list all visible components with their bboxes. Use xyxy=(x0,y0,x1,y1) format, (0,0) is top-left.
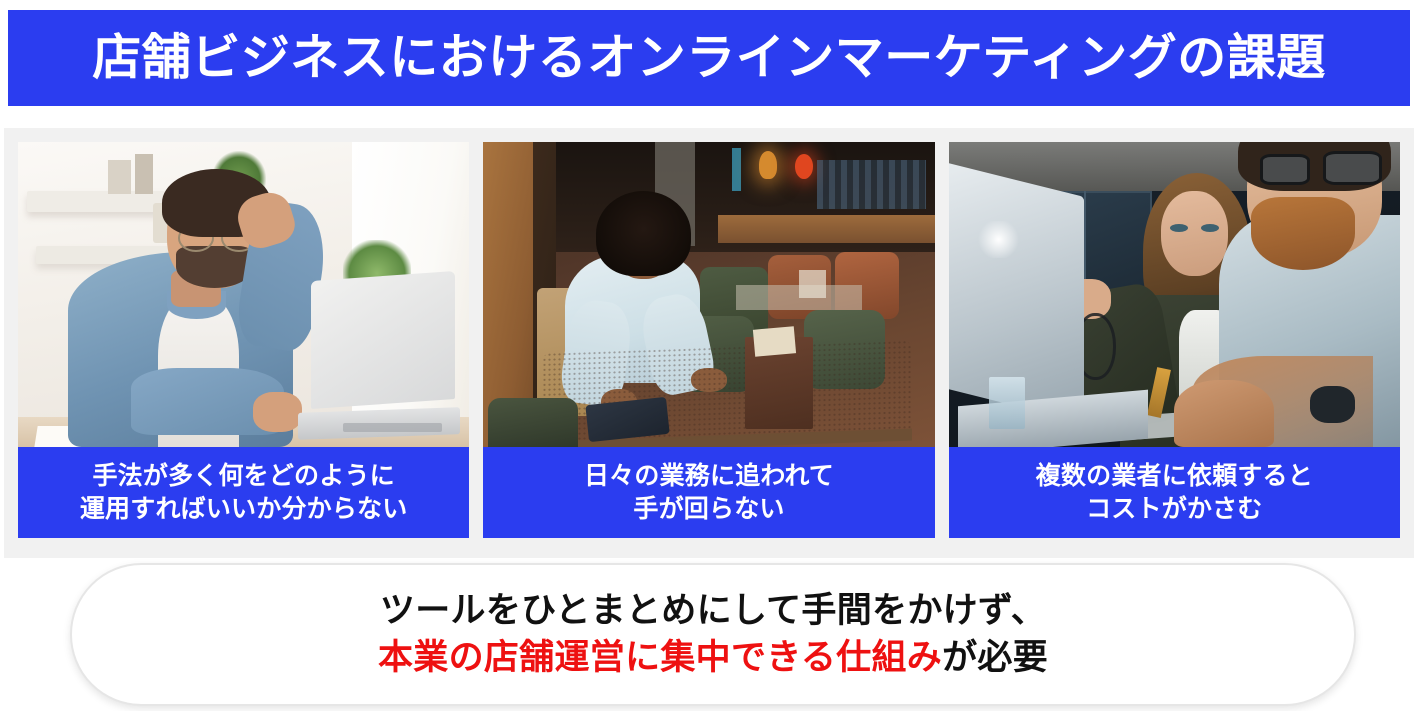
conclusion-line-2: 本業の店舗運営に集中できる仕組みが必要 xyxy=(378,637,1048,680)
problem-card-3-caption: 複数の業者に依頼すると コストがかさむ xyxy=(949,447,1400,538)
slide-root: 店舗ビジネスにおけるオンラインマーケティングの課題 xyxy=(0,0,1418,711)
problem-card-1-caption: 手法が多く何をどのように 運用すればいいか分からない xyxy=(18,447,469,538)
page-title: 店舗ビジネスにおけるオンラインマーケティングの課題 xyxy=(92,34,1326,83)
caption-line-2: 手が回らない xyxy=(633,493,784,526)
conclusion-line-1: ツールをひとまとめにして手間をかけず、 xyxy=(380,590,1046,633)
caption-line-1: 複数の業者に依頼すると xyxy=(1036,460,1313,493)
caption-line-1: 手法が多く何をどのように xyxy=(92,460,394,493)
problem-card-1: 手法が多く何をどのように 運用すればいいか分からない xyxy=(18,142,469,538)
problem-card-3: 複数の業者に依頼すると コストがかさむ xyxy=(949,142,1400,538)
conclusion-box: ツールをひとまとめにして手間をかけず、 本業の店舗運営に集中できる仕組みが必要 xyxy=(70,563,1356,706)
conclusion-highlight: 本業の店舗運営に集中できる仕組み xyxy=(378,638,942,677)
restaurant-staff-cleaning-table-photo xyxy=(483,142,934,447)
two-coworkers-at-laptop-photo xyxy=(949,142,1400,447)
problem-card-2: 日々の業務に追われて 手が回らない xyxy=(483,142,934,538)
caption-line-2: 運用すればいいか分からない xyxy=(80,493,408,526)
stressed-man-at-laptop-photo xyxy=(18,142,469,447)
header-bar: 店舗ビジネスにおけるオンラインマーケティングの課題 xyxy=(8,10,1410,106)
caption-line-2: コストがかさむ xyxy=(1086,493,1262,526)
cards-panel: 手法が多く何をどのように 運用すればいいか分からない xyxy=(4,128,1414,558)
problem-card-2-caption: 日々の業務に追われて 手が回らない xyxy=(483,447,934,538)
conclusion-tail: が必要 xyxy=(942,638,1048,677)
cards-row: 手法が多く何をどのように 運用すればいいか分からない xyxy=(18,142,1400,538)
caption-line-1: 日々の業務に追われて xyxy=(584,460,834,493)
